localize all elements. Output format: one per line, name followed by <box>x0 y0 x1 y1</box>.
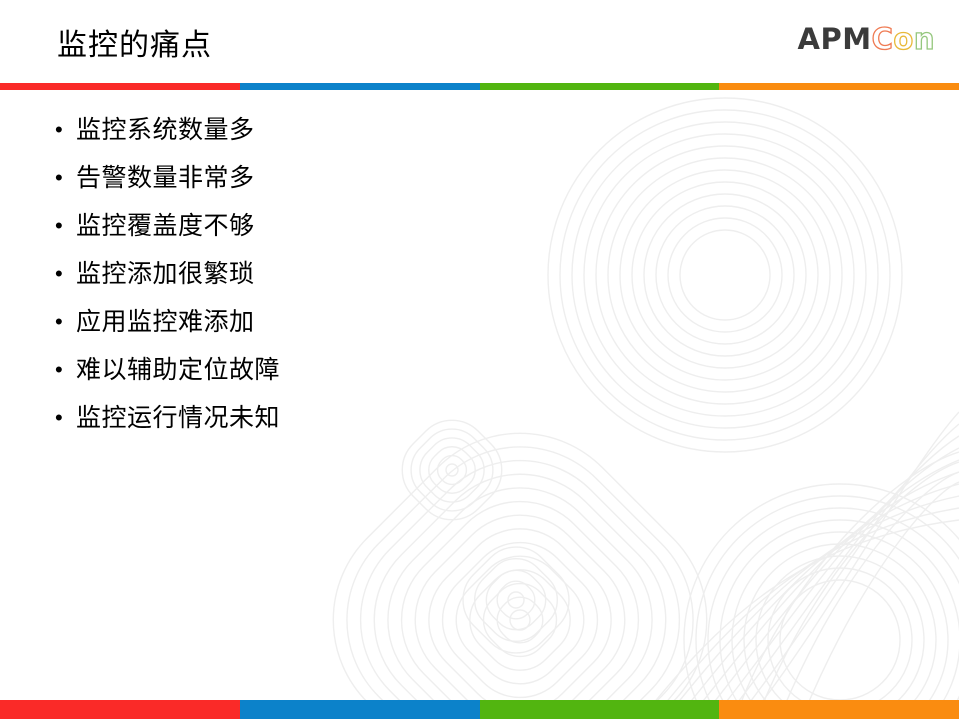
list-item-label: 告警数量非常多 <box>76 160 255 196</box>
bullet-marker-icon: • <box>48 352 76 388</box>
list-item-label: 难以辅助定位故障 <box>76 352 280 388</box>
bullet-marker-icon: • <box>48 304 76 340</box>
list-item-label: 监控系统数量多 <box>76 112 255 148</box>
list-item-label: 监控运行情况未知 <box>76 400 280 436</box>
list-item: • 告警数量非常多 <box>48 160 280 208</box>
list-item-label: 监控添加很繁琐 <box>76 256 255 292</box>
list-item: • 应用监控难添加 <box>48 304 280 352</box>
top-accent-bar <box>0 83 959 90</box>
apmcon-logo: APMCon <box>798 23 935 55</box>
logo-text-c: C <box>872 23 894 55</box>
accent-segment-orange <box>719 83 959 90</box>
accent-segment-green <box>480 700 720 719</box>
bottom-accent-bar <box>0 700 959 719</box>
list-item: • 监控运行情况未知 <box>48 400 280 448</box>
accent-segment-red <box>0 700 240 719</box>
accent-segment-orange <box>719 700 959 719</box>
bullet-marker-icon: • <box>48 256 76 292</box>
accent-segment-green <box>480 83 720 90</box>
bullet-marker-icon: • <box>48 160 76 196</box>
page-title: 监控的痛点 <box>57 26 212 66</box>
bullet-marker-icon: • <box>48 400 76 436</box>
list-item: • 难以辅助定位故障 <box>48 352 280 400</box>
logo-text-apm: APM <box>798 23 872 55</box>
accent-segment-blue <box>240 700 480 719</box>
bullet-marker-icon: • <box>48 112 76 148</box>
slide: 监控的痛点 APMCon • 监控系统数量多 • 告警数量非常多 • 监控覆盖度… <box>0 0 959 719</box>
logo-text-n: n <box>914 23 935 55</box>
bullet-marker-icon: • <box>48 208 76 244</box>
list-item-label: 监控覆盖度不够 <box>76 208 255 244</box>
list-item-label: 应用监控难添加 <box>76 304 255 340</box>
accent-segment-blue <box>240 83 480 90</box>
logo-text-o: o <box>893 23 913 55</box>
list-item: • 监控添加很繁琐 <box>48 256 280 304</box>
bullet-list: • 监控系统数量多 • 告警数量非常多 • 监控覆盖度不够 • 监控添加很繁琐 … <box>48 112 280 448</box>
list-item: • 监控覆盖度不够 <box>48 208 280 256</box>
list-item: • 监控系统数量多 <box>48 112 280 160</box>
accent-segment-red <box>0 83 240 90</box>
